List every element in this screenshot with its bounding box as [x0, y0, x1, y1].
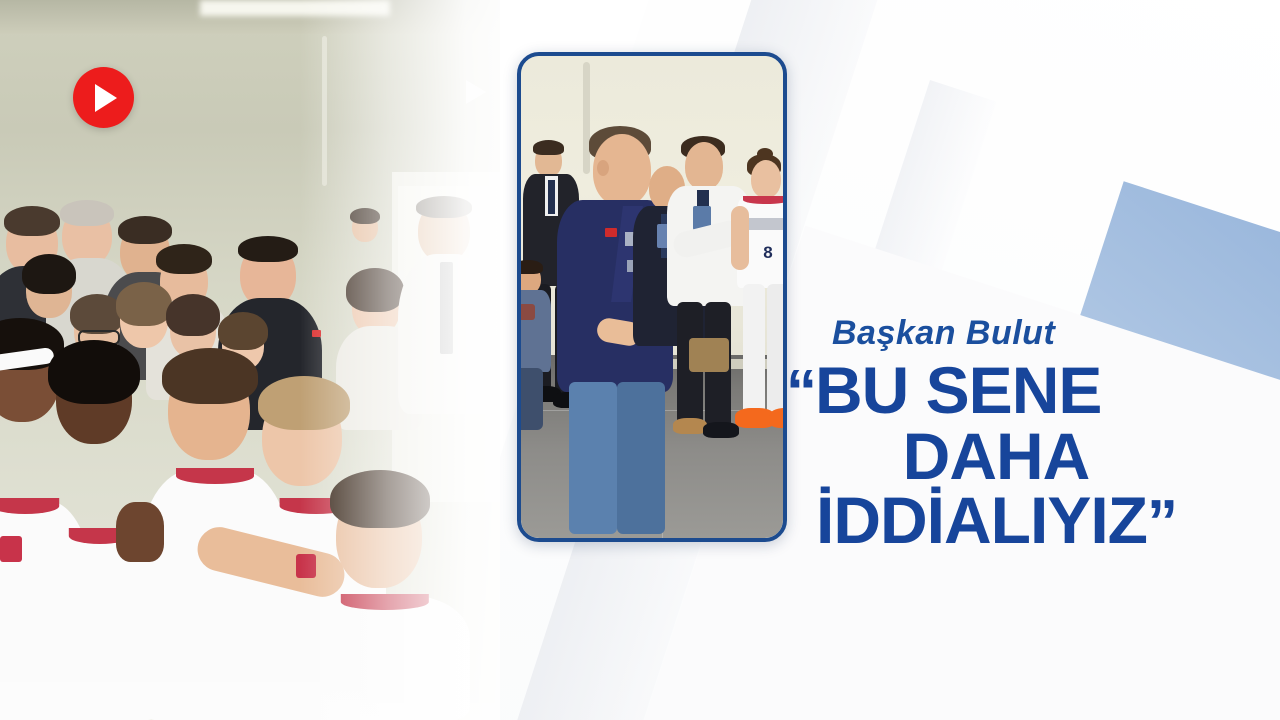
- play-button[interactable]: [73, 67, 134, 128]
- ghost-play-icon: [466, 80, 486, 104]
- crowd-person-hair: [156, 244, 212, 274]
- jersey-trim: [743, 196, 783, 204]
- photo-bottom-fade: [0, 660, 530, 720]
- speaker-ear: [597, 160, 609, 176]
- inset-child-hair: [521, 260, 543, 274]
- close-quote: ”: [1147, 488, 1176, 557]
- basketball-player-arm: [731, 206, 749, 270]
- inset-bag: [689, 338, 729, 372]
- inset-child-torso: [521, 290, 551, 372]
- player-hair: [162, 348, 258, 404]
- speaker-lapel-flag-pin: [605, 228, 617, 237]
- crowd-person-hair: [22, 254, 76, 294]
- crowd-person-hair: [4, 206, 60, 236]
- headline-kicker: Başkan Bulut: [832, 314, 1055, 353]
- official-shoe: [673, 418, 707, 434]
- headline-line-1: “BU SENE: [786, 358, 1206, 424]
- inset-photo: 8: [521, 56, 783, 538]
- crowd-person-hair: [218, 312, 268, 350]
- jersey-number: 8: [757, 242, 779, 264]
- inset-wall-pipe: [583, 62, 590, 174]
- crowd-person-hair: [118, 216, 172, 244]
- headline-line-3-text: İDDİALIYIZ: [816, 483, 1147, 557]
- crowd-person-hair: [238, 236, 298, 262]
- official-shoe: [703, 422, 739, 438]
- speaker-jeans: [617, 382, 665, 534]
- headline-block: “BU SENE DAHA İDDİALIYIZ”: [786, 358, 1206, 554]
- basketball-player-bun: [757, 148, 773, 160]
- inset-person-hair: [533, 140, 564, 155]
- speaker-jeans: [569, 382, 617, 534]
- crowd-person-hair: [60, 200, 114, 226]
- headline-line-1-text: BU SENE: [815, 353, 1101, 427]
- inset-child-leg: [521, 368, 543, 430]
- headline-line-2: DAHA: [786, 424, 1206, 489]
- basketball-player-shoe: [769, 408, 783, 428]
- jersey-team-text: [745, 218, 783, 230]
- news-thumbnail-stage: 8 Başkan Bulut “BU SENE DAHA İDDİALIYIZ”: [0, 0, 1280, 720]
- player-hair: [48, 340, 140, 404]
- crowd-person-hair: [166, 294, 220, 336]
- photo-right-fade: [300, 0, 530, 720]
- open-quote: “: [786, 358, 815, 427]
- jersey-logo: [0, 536, 22, 562]
- official-head: [685, 142, 723, 190]
- headline-line-3: İDDİALIYIZ”: [786, 488, 1206, 554]
- inset-photo-card[interactable]: 8: [517, 52, 787, 542]
- basketball-player-leg: [767, 284, 783, 418]
- play-icon: [95, 84, 117, 112]
- player-hand: [116, 502, 164, 562]
- crowd-person-hair: [116, 282, 172, 326]
- inset-child-graphic: [521, 304, 535, 320]
- basketball-player-head: [751, 160, 781, 198]
- inset-tie: [548, 180, 555, 214]
- basketball-player-leg: [743, 284, 765, 418]
